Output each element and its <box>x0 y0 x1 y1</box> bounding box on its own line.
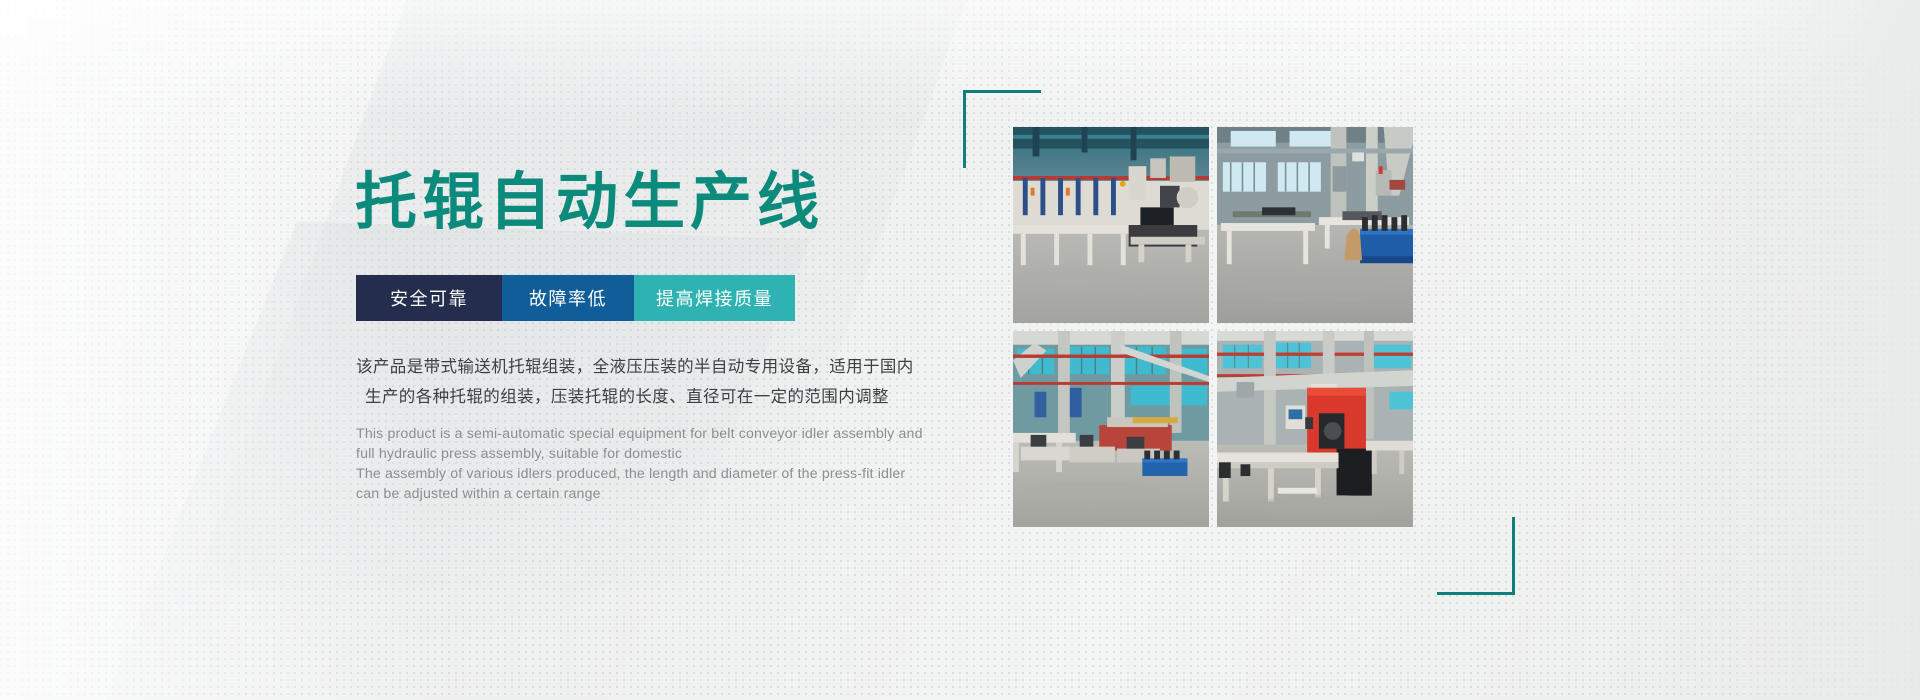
photo-grid <box>1013 127 1413 527</box>
feature-tag-weld-quality[interactable]: 提高焊接质量 <box>634 275 795 321</box>
description-english-line-2: full hydraulic press assembly, suitable … <box>356 444 956 464</box>
description-chinese-line-1: 该产品是带式输送机托辊组装，全液压压装的半自动专用设备，适用于国内 <box>356 352 966 382</box>
product-banner: 托辊自动生产线 安全可靠 故障率低 提高焊接质量 该产品是带式输送机托辊组装，全… <box>0 0 1920 700</box>
gallery-photo-2[interactable] <box>1217 127 1413 323</box>
factory-workbench-idlers-image <box>1217 127 1413 323</box>
corner-bracket-bottom-right-icon <box>1437 517 1515 595</box>
gallery-photo-3[interactable] <box>1013 331 1209 527</box>
banner-text-column: 托辊自动生产线 安全可靠 故障率低 提高焊接质量 该产品是带式输送机托辊组装，全… <box>355 0 975 700</box>
feature-tag-low-failure[interactable]: 故障率低 <box>502 275 634 321</box>
description-english-line-3: The assembly of various idlers produced,… <box>356 464 956 484</box>
gallery-photo-1[interactable] <box>1013 127 1209 323</box>
description-english: This product is a semi-automatic special… <box>356 424 956 504</box>
photo-gallery <box>975 95 1445 540</box>
feature-tag-row: 安全可靠 故障率低 提高焊接质量 <box>356 275 795 321</box>
description-english-line-4: can be adjusted within a certain range <box>356 484 956 504</box>
description-chinese-line-2: 生产的各种托辊的组装，压装托辊的长度、直径可在一定的范围内调整 <box>356 382 966 412</box>
page-title: 托辊自动生产线 <box>355 172 824 234</box>
description-chinese: 该产品是带式输送机托辊组装，全液压压装的半自动专用设备，适用于国内 生产的各种托… <box>356 352 966 412</box>
description-english-line-1: This product is a semi-automatic special… <box>356 424 956 444</box>
feature-tag-safety[interactable]: 安全可靠 <box>356 275 502 321</box>
gallery-photo-4[interactable] <box>1217 331 1413 527</box>
factory-red-press-machine-image <box>1217 331 1413 527</box>
right-fade-overlay <box>1620 0 1920 700</box>
factory-assembly-machines-image <box>1013 331 1209 527</box>
factory-roller-conveyor-line-image <box>1013 127 1209 323</box>
